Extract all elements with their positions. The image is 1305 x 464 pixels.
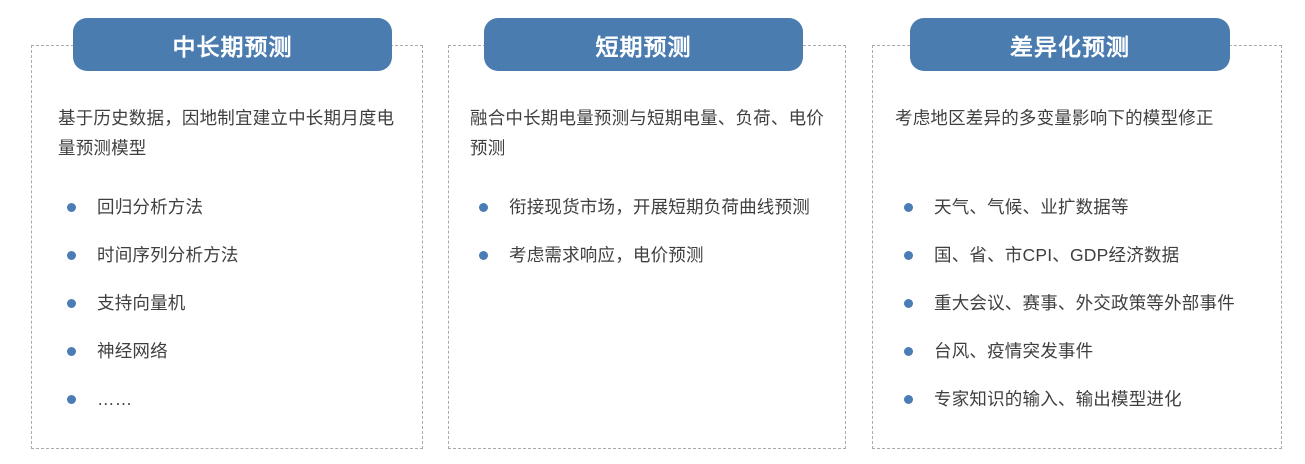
list-item: 台风、疫情突发事件 [895, 336, 1275, 366]
list-item: 回归分析方法 [58, 192, 408, 222]
card-intro-1: 基于历史数据，因地制宜建立中长期月度电量预测模型 [58, 103, 408, 163]
list-item-label: 国、省、市CPI、GDP经济数据 [934, 240, 1275, 270]
list-item-label: 天气、气候、业扩数据等 [934, 192, 1275, 222]
list-item: 国、省、市CPI、GDP经济数据 [895, 240, 1275, 270]
list-item: 支持向量机 [58, 288, 408, 318]
card-title-text-3: 差异化预测 [1010, 28, 1130, 62]
list-item: 重大会议、赛事、外交政策等外部事件 [895, 288, 1275, 318]
list-item: 时间序列分析方法 [58, 240, 408, 270]
bullet-dot-icon [904, 251, 913, 260]
bullet-dot-icon [904, 299, 913, 308]
card-intro-3: 考虑地区差异的多变量影响下的模型修正 [895, 103, 1265, 133]
card-title-text-2: 短期预测 [596, 28, 692, 62]
list-item-label: 台风、疫情突发事件 [934, 336, 1275, 366]
bullet-dot-icon [67, 203, 76, 212]
list-item: 天气、气候、业扩数据等 [895, 192, 1275, 222]
list-item: …… [58, 384, 408, 414]
card-bullet-list-1: 回归分析方法 时间序列分析方法 支持向量机 神经网络 …… [58, 192, 408, 432]
forecast-cards-diagram: 中长期预测 基于历史数据，因地制宜建立中长期月度电量预测模型 回归分析方法 时间… [0, 0, 1305, 464]
card-title-pill-2: 短期预测 [484, 18, 803, 71]
bullet-dot-icon [479, 203, 488, 212]
bullet-dot-icon [67, 299, 76, 308]
bullet-dot-icon [67, 251, 76, 260]
list-item-label: 衔接现货市场，开展短期负荷曲线预测 [509, 192, 832, 222]
list-item: 神经网络 [58, 336, 408, 366]
list-item-label: 考虑需求响应，电价预测 [509, 240, 832, 270]
card-bullet-list-3: 天气、气候、业扩数据等 国、省、市CPI、GDP经济数据 重大会议、赛事、外交政… [895, 192, 1275, 432]
bullet-dot-icon [904, 395, 913, 404]
bullet-dot-icon [479, 251, 488, 260]
list-item-label: 回归分析方法 [97, 192, 408, 222]
card-title-pill-3: 差异化预测 [910, 18, 1230, 71]
card-intro-2: 融合中长期电量预测与短期电量、负荷、电价预测 [470, 103, 830, 163]
list-item-label: 时间序列分析方法 [97, 240, 408, 270]
card-title-text-1: 中长期预测 [173, 28, 293, 62]
list-item: 考虑需求响应，电价预测 [470, 240, 832, 270]
list-item-label: 重大会议、赛事、外交政策等外部事件 [934, 288, 1275, 318]
list-item-label: 神经网络 [97, 336, 408, 366]
list-item: 专家知识的输入、输出模型进化 [895, 384, 1275, 414]
card-bullet-list-2: 衔接现货市场，开展短期负荷曲线预测 考虑需求响应，电价预测 [470, 192, 832, 288]
bullet-dot-icon [67, 347, 76, 356]
bullet-dot-icon [904, 347, 913, 356]
list-item-label: 专家知识的输入、输出模型进化 [934, 384, 1275, 414]
bullet-dot-icon [904, 203, 913, 212]
list-item: 衔接现货市场，开展短期负荷曲线预测 [470, 192, 832, 222]
card-title-pill-1: 中长期预测 [73, 18, 392, 71]
list-item-label: 支持向量机 [97, 288, 408, 318]
list-item-label: …… [97, 384, 408, 414]
bullet-dot-icon [67, 395, 76, 404]
